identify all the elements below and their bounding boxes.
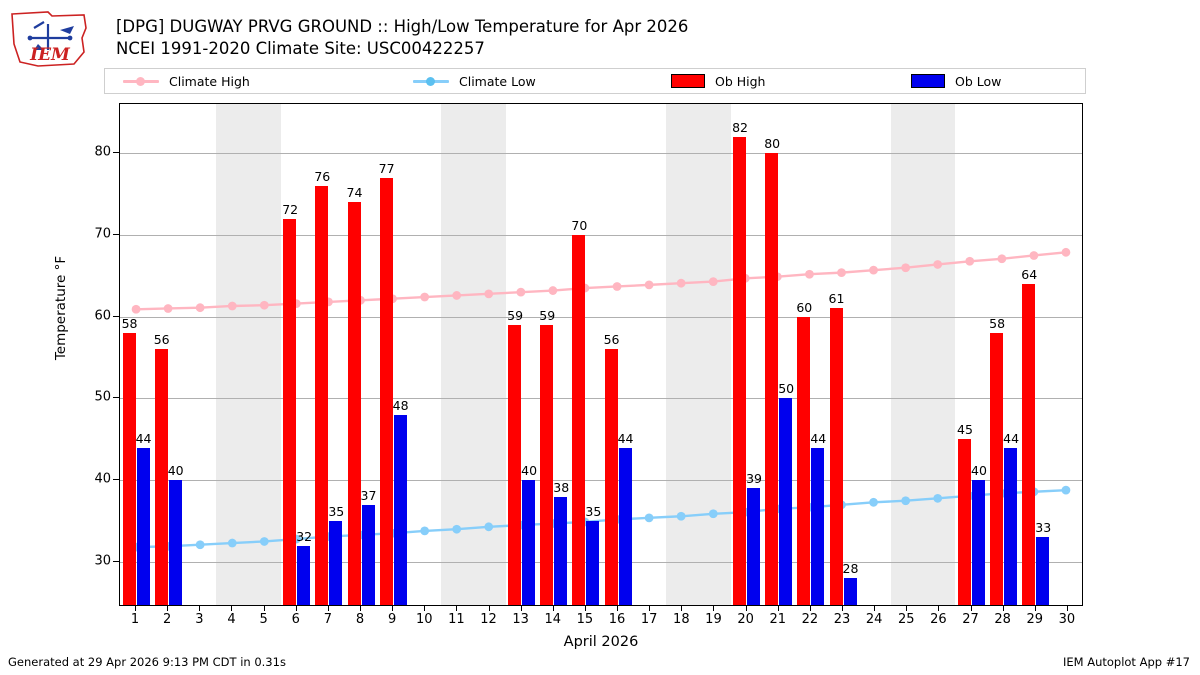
- x-tick-label: 21: [769, 612, 786, 627]
- y-tick-mark: [113, 316, 119, 317]
- ob-low-bar: [1004, 448, 1017, 606]
- ob-high-bar: [123, 333, 136, 605]
- ob-low-bar: [747, 488, 760, 605]
- x-tick-label: 3: [195, 612, 203, 627]
- ob-high-bar: [797, 317, 810, 605]
- x-tick-mark: [617, 606, 618, 611]
- ob-low-bar: [169, 480, 182, 605]
- ob-low-bar: [554, 497, 567, 605]
- climate-high-line: [136, 252, 1066, 309]
- climate-low-marker: [484, 522, 493, 531]
- x-tick-label: 1: [131, 612, 139, 627]
- ob-high-bar-label: 76: [314, 169, 330, 184]
- ob-high-bar-label: 61: [829, 291, 845, 306]
- ob-low-bar-label: 39: [746, 471, 762, 486]
- x-tick-label: 5: [259, 612, 267, 627]
- legend-label-climate-high: Climate High: [169, 74, 250, 89]
- climate-high-marker: [549, 286, 558, 295]
- x-tick-mark: [135, 606, 136, 611]
- x-tick-label: 7: [324, 612, 332, 627]
- x-tick-label: 9: [388, 612, 396, 627]
- plot-inner: 5844564072327635743777485940593870355644…: [120, 104, 1082, 605]
- blue-swatch-icon: [911, 74, 945, 88]
- ob-low-bar: [137, 448, 150, 606]
- ob-low-bar: [522, 480, 535, 605]
- chart-page: IEM [DPG] DUGWAY PRVG GROUND :: High/Low…: [0, 0, 1200, 675]
- x-tick-label: 30: [1059, 612, 1076, 627]
- x-tick-mark: [842, 606, 843, 611]
- x-tick-mark: [681, 606, 682, 611]
- x-tick-label: 25: [898, 612, 915, 627]
- ob-low-bar-label: 32: [296, 529, 312, 544]
- x-tick-mark: [296, 606, 297, 611]
- x-tick-label: 15: [577, 612, 594, 627]
- climate-high-marker: [1062, 248, 1071, 257]
- ob-low-bar-label: 37: [361, 488, 377, 503]
- ob-high-bar: [990, 333, 1003, 605]
- climate-high-marker: [837, 268, 846, 277]
- x-tick-label: 27: [962, 612, 979, 627]
- climate-high-marker: [228, 302, 237, 311]
- x-tick-label: 13: [512, 612, 529, 627]
- ob-low-bar-label: 44: [810, 431, 826, 446]
- climate-high-marker: [869, 266, 878, 275]
- ob-low-bar: [329, 521, 342, 605]
- climate-high-marker: [613, 282, 622, 291]
- ob-high-bar: [540, 325, 553, 605]
- ob-high-bar-label: 56: [154, 332, 170, 347]
- y-tick-label: 70: [94, 226, 111, 241]
- legend-label-climate-low: Climate Low: [459, 74, 536, 89]
- x-tick-label: 20: [737, 612, 754, 627]
- x-tick-mark: [778, 606, 779, 611]
- x-tick-label: 4: [227, 612, 235, 627]
- ob-high-bar: [508, 325, 521, 605]
- ob-high-bar-label: 56: [604, 332, 620, 347]
- x-tick-label: 18: [673, 612, 690, 627]
- x-tick-label: 6: [292, 612, 300, 627]
- ob-low-bar: [972, 480, 985, 605]
- x-tick-mark: [553, 606, 554, 611]
- ob-high-bar-label: 58: [122, 316, 138, 331]
- legend-item-ob-low[interactable]: Ob Low: [911, 69, 1061, 93]
- y-tick-mark: [113, 561, 119, 562]
- ob-low-bar: [779, 398, 792, 605]
- x-tick-mark: [360, 606, 361, 611]
- ob-high-bar-label: 59: [507, 308, 523, 323]
- ob-low-bar-label: 35: [585, 504, 601, 519]
- ob-high-bar: [380, 178, 393, 605]
- y-tick-label: 30: [94, 554, 111, 569]
- x-axis-labels: 1234567891011121314151617181920212223242…: [119, 609, 1083, 633]
- climate-low-marker: [228, 539, 237, 548]
- y-tick-mark: [113, 397, 119, 398]
- x-tick-mark: [231, 606, 232, 611]
- y-tick-label: 40: [94, 472, 111, 487]
- x-tick-mark: [1003, 606, 1004, 611]
- climate-high-marker: [997, 254, 1006, 263]
- ob-low-bar-label: 50: [778, 381, 794, 396]
- climate-low-marker: [452, 525, 461, 534]
- climate-high-marker: [1030, 251, 1039, 260]
- x-tick-label: 19: [705, 612, 722, 627]
- ob-high-bar: [1022, 284, 1035, 605]
- x-tick-mark: [167, 606, 168, 611]
- ob-high-bar-label: 77: [379, 161, 395, 176]
- pink-line-marker-icon: [123, 75, 159, 87]
- y-tick-mark: [113, 234, 119, 235]
- ob-high-bar-label: 64: [1021, 267, 1037, 282]
- x-tick-mark: [392, 606, 393, 611]
- ob-high-bar: [572, 235, 585, 605]
- climate-line-series: [120, 104, 1082, 605]
- x-tick-mark: [810, 606, 811, 611]
- climate-high-marker: [933, 260, 942, 269]
- iem-logo[interactable]: IEM: [8, 8, 92, 70]
- climate-low-marker: [869, 498, 878, 507]
- x-tick-mark: [713, 606, 714, 611]
- ob-high-bar-label: 72: [282, 202, 298, 217]
- climate-high-marker: [901, 263, 910, 272]
- x-tick-label: 11: [448, 612, 465, 627]
- ob-low-bar-label: 35: [328, 504, 344, 519]
- ob-low-bar: [362, 505, 375, 605]
- ob-high-bar: [605, 349, 618, 605]
- y-axis-title: Temperature °F: [53, 208, 69, 408]
- ob-low-bar-label: 40: [521, 463, 537, 478]
- y-axis-labels: 304050607080: [78, 103, 111, 606]
- ob-low-bar-label: 48: [393, 398, 409, 413]
- x-tick-mark: [456, 606, 457, 611]
- x-tick-label: 8: [356, 612, 364, 627]
- x-tick-mark: [874, 606, 875, 611]
- x-tick-mark: [1067, 606, 1068, 611]
- ob-low-bar-label: 40: [168, 463, 184, 478]
- x-tick-mark: [424, 606, 425, 611]
- x-tick-label: 23: [834, 612, 851, 627]
- ob-low-bar: [619, 448, 632, 606]
- footer-generated-text: Generated at 29 Apr 2026 9:13 PM CDT in …: [8, 655, 286, 669]
- ob-low-bar-label: 38: [553, 480, 569, 495]
- ob-high-bar: [733, 137, 746, 605]
- climate-high-marker: [965, 257, 974, 266]
- ob-low-bar: [811, 448, 824, 606]
- ob-high-bar: [765, 153, 778, 605]
- legend-label-ob-high: Ob High: [715, 74, 765, 89]
- ob-high-bar: [155, 349, 168, 605]
- ob-high-bar-label: 45: [957, 422, 973, 437]
- ob-high-bar-label: 58: [989, 316, 1005, 331]
- legend-label-ob-low: Ob Low: [955, 74, 1001, 89]
- ob-high-bar-label: 60: [796, 300, 812, 315]
- climate-high-marker: [805, 270, 814, 279]
- climate-low-marker: [901, 496, 910, 505]
- ob-high-bar-label: 74: [347, 185, 363, 200]
- climate-low-marker: [933, 494, 942, 503]
- footer-app-text: IEM Autoplot App #17: [1063, 655, 1190, 669]
- climate-high-marker: [420, 293, 429, 302]
- climate-low-marker: [709, 509, 718, 518]
- ob-high-bar-label: 59: [539, 308, 555, 323]
- ob-low-bar: [394, 415, 407, 605]
- legend-item-climate-low[interactable]: Climate Low: [413, 69, 671, 93]
- x-tick-mark: [746, 606, 747, 611]
- ob-low-bar-label: 28: [843, 561, 859, 576]
- ob-low-bar: [1036, 537, 1049, 605]
- climate-high-marker: [196, 303, 205, 312]
- ob-high-bar: [283, 219, 296, 606]
- x-tick-label: 10: [416, 612, 433, 627]
- ob-high-bar: [348, 202, 361, 605]
- x-tick-mark: [906, 606, 907, 611]
- x-tick-mark: [521, 606, 522, 611]
- x-tick-label: 2: [163, 612, 171, 627]
- x-tick-label: 12: [480, 612, 497, 627]
- x-tick-mark: [585, 606, 586, 611]
- plot-area: 5844564072327635743777485940593870355644…: [119, 103, 1083, 606]
- climate-high-marker: [645, 280, 654, 289]
- climate-high-marker: [260, 301, 269, 310]
- climate-high-marker: [452, 291, 461, 300]
- climate-low-marker: [260, 537, 269, 546]
- x-tick-mark: [199, 606, 200, 611]
- ob-high-bar-label: 82: [732, 120, 748, 135]
- chart-legend: Climate High Climate Low Ob High Ob Low: [104, 68, 1086, 94]
- legend-item-climate-high[interactable]: Climate High: [123, 69, 413, 93]
- climate-high-marker: [677, 279, 686, 288]
- climate-high-marker: [132, 305, 141, 314]
- y-tick-mark: [113, 479, 119, 480]
- x-axis-title: April 2026: [119, 634, 1083, 650]
- y-tick-label: 50: [94, 390, 111, 405]
- climate-low-marker: [645, 513, 654, 522]
- x-tick-mark: [1035, 606, 1036, 611]
- x-tick-mark: [649, 606, 650, 611]
- title-line-2: NCEI 1991-2020 Climate Site: USC00422257: [116, 38, 688, 60]
- legend-item-ob-high[interactable]: Ob High: [671, 69, 911, 93]
- ob-high-bar-label: 80: [764, 136, 780, 151]
- ob-low-bar-label: 40: [971, 463, 987, 478]
- climate-high-marker: [164, 304, 173, 313]
- x-tick-mark: [971, 606, 972, 611]
- x-tick-mark: [489, 606, 490, 611]
- red-swatch-icon: [671, 74, 705, 88]
- ob-low-bar-label: 44: [136, 431, 152, 446]
- ob-high-bar-label: 70: [571, 218, 587, 233]
- climate-low-marker: [677, 512, 686, 521]
- x-tick-label: 29: [1027, 612, 1044, 627]
- page-title: [DPG] DUGWAY PRVG GROUND :: High/Low Tem…: [116, 16, 688, 60]
- x-tick-label: 14: [545, 612, 562, 627]
- climate-high-marker: [709, 277, 718, 286]
- y-tick-label: 60: [94, 308, 111, 323]
- x-tick-label: 24: [866, 612, 883, 627]
- y-tick-label: 80: [94, 145, 111, 160]
- ob-low-bar: [297, 546, 310, 605]
- climate-low-marker: [420, 527, 429, 536]
- iem-logo-text: IEM: [29, 45, 71, 65]
- ob-low-bar-label: 44: [618, 431, 634, 446]
- x-tick-label: 28: [994, 612, 1011, 627]
- climate-low-marker: [196, 540, 205, 549]
- ob-high-bar: [958, 439, 971, 605]
- climate-high-marker: [484, 289, 493, 298]
- x-tick-label: 16: [609, 612, 626, 627]
- ob-low-bar: [844, 578, 857, 605]
- ob-high-bar: [830, 308, 843, 605]
- climate-low-marker: [1062, 486, 1071, 495]
- x-tick-mark: [264, 606, 265, 611]
- ob-low-bar-label: 44: [1003, 431, 1019, 446]
- x-tick-mark: [328, 606, 329, 611]
- title-line-1: [DPG] DUGWAY PRVG GROUND :: High/Low Tem…: [116, 16, 688, 38]
- x-tick-label: 22: [802, 612, 819, 627]
- climate-high-marker: [516, 288, 525, 297]
- x-tick-label: 26: [930, 612, 947, 627]
- x-tick-label: 17: [641, 612, 658, 627]
- x-tick-mark: [938, 606, 939, 611]
- blue-line-marker-icon: [413, 75, 449, 87]
- y-tick-mark: [113, 152, 119, 153]
- ob-low-bar: [586, 521, 599, 605]
- ob-low-bar-label: 33: [1035, 520, 1051, 535]
- ob-high-bar: [315, 186, 328, 605]
